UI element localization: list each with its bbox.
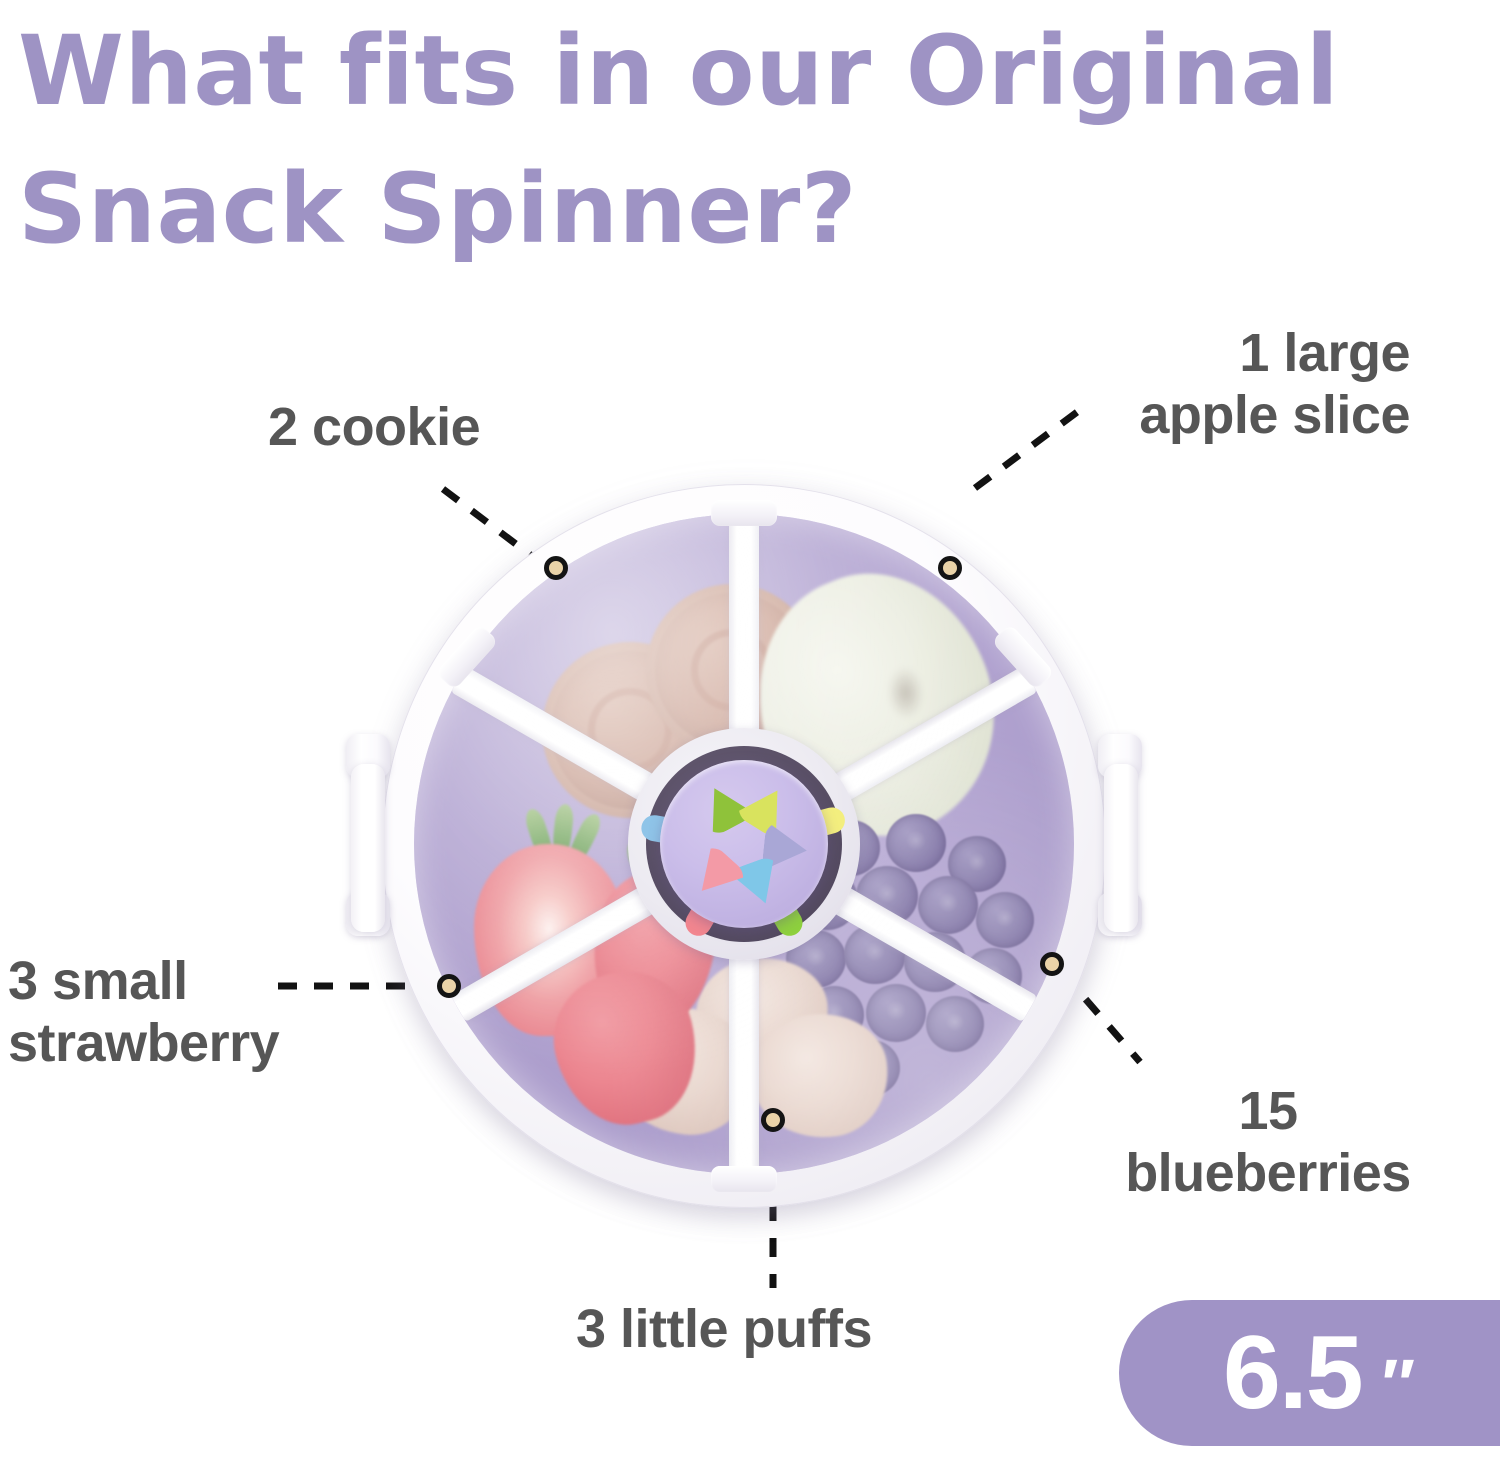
size-badge: 6.5 ″ [1119, 1300, 1500, 1446]
callout-puffs-line-1: 3 little puffs [576, 1298, 872, 1360]
rim-tab-bottom [711, 1166, 777, 1192]
callout-label-strawberry: 3 small strawberry [8, 950, 279, 1074]
product-lid [414, 514, 1074, 1174]
hub-knob[interactable] [660, 760, 828, 928]
callout-label-apple: 1 large apple slice [1139, 322, 1410, 446]
callout-strawberry-line-1: 3 small [8, 950, 279, 1012]
rim-tab-top [711, 500, 777, 526]
anchor-dot-blueberries [1040, 952, 1064, 976]
latch-right[interactable] [1104, 764, 1138, 932]
latch-left[interactable] [351, 764, 385, 932]
anchor-dot-apple [938, 556, 962, 580]
blueberry [918, 876, 978, 934]
snack-spinner-product [338, 448, 1150, 1260]
apple-core-shadow [886, 666, 926, 720]
blueberry [886, 814, 946, 872]
callout-apple-line-1: 1 large [1139, 322, 1410, 384]
size-badge-inner: 6.5 ″ [1119, 1321, 1415, 1425]
blueberry [926, 996, 984, 1052]
callout-label-puffs: 3 little puffs [576, 1298, 872, 1360]
callout-strawberry-line-2: strawberry [8, 1012, 279, 1074]
anchor-dot-puffs [761, 1108, 785, 1132]
page-title-line-2: Snack Spinner? [18, 140, 1478, 278]
anchor-dot-cookie [544, 556, 568, 580]
page-title: What fits in our Original Snack Spinner? [18, 2, 1478, 278]
infographic-page: What fits in our Original Snack Spinner?… [0, 0, 1500, 1459]
page-title-line-1: What fits in our Original [18, 2, 1478, 140]
callout-apple-line-2: apple slice [1139, 384, 1410, 446]
size-unit: ″ [1382, 1349, 1416, 1419]
anchor-dot-strawberry [437, 974, 461, 998]
blueberry [976, 892, 1034, 948]
size-value: 6.5 [1223, 1321, 1362, 1425]
